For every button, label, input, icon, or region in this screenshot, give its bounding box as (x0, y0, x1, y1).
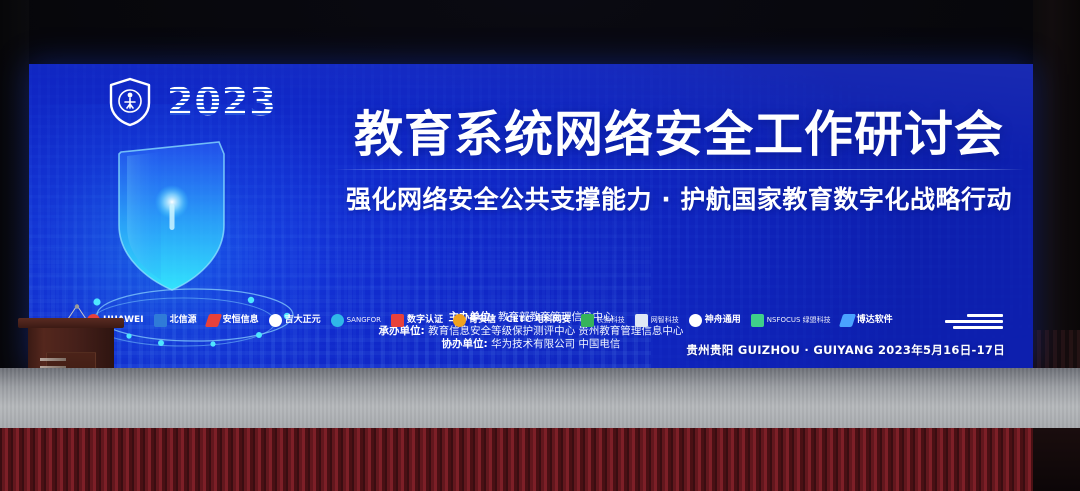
led-banner: 2023 (29, 64, 1033, 368)
sponsor-logo: 神舟通用 (689, 311, 741, 329)
page-title: 教育系统网络安全工作研讨会 (329, 109, 1029, 160)
sponsor-mark-icon (453, 314, 466, 327)
sponsor-logo: SANGFOR (331, 311, 381, 329)
conference-stage-scene: 2023 (0, 0, 1080, 491)
sponsor-name: 网智科技 (651, 317, 679, 324)
sponsor-logo: 北信源 (154, 311, 197, 329)
sponsor-logo: 网智科技 (635, 311, 679, 329)
sponsor-name: CETC 电科网安 (506, 316, 571, 325)
sponsor-mark-icon (581, 314, 594, 327)
sponsor-logo: 安恒信息 (207, 311, 259, 329)
sponsor-logo: 奇安信 (453, 311, 496, 329)
sponsor-mark-icon (269, 314, 282, 327)
sponsor-name: 安恒信息 (223, 316, 259, 325)
sponsor-mark-icon (635, 314, 648, 327)
sponsor-name: 数字认证 (407, 316, 443, 325)
podium-top (18, 318, 124, 328)
sponsor-logo: NSFOCUS 绿盟科技 (751, 311, 831, 329)
organizer-value: 华为技术有限公司 中国电信 (491, 338, 620, 350)
sponsor-logo: 博达软件 (841, 311, 893, 329)
year-lockup: 2023 (107, 76, 277, 128)
title-block: 教育系统网络安全工作研讨会 强化网络安全公共支撑能力 · 护航国家教育数字化战略… (329, 109, 1029, 216)
page-subtitle: 强化网络安全公共支撑能力 · 护航国家教育数字化战略行动 (329, 180, 1029, 216)
organizer-label: 协办单位: (442, 338, 488, 350)
stage-skirt-right-shadow (1033, 428, 1080, 491)
decorative-bars (943, 314, 1003, 332)
shield-person-logo-icon (107, 76, 153, 128)
sponsor-name: NSFOCUS 绿盟科技 (767, 317, 831, 324)
sponsor-name: SANGFOR (347, 317, 381, 324)
podium-slat (40, 358, 66, 361)
sponsor-logo: 吉大正元 (269, 311, 321, 329)
title-divider (333, 169, 1025, 170)
sponsor-name: 奇安信 (469, 316, 496, 325)
year-text: 2023 (167, 83, 277, 121)
sponsor-mark-icon (391, 314, 404, 327)
sponsor-name: 博达软件 (857, 316, 893, 325)
sponsor-logo: 数字认证 (391, 311, 443, 329)
sponsor-mark-icon (689, 314, 702, 327)
place-and-date: 贵州贵阳 GUIZHOU · GUIYANG 2023年5月16日-17日 (686, 342, 1005, 358)
sponsor-name: 长扬科技 (597, 317, 625, 324)
sponsor-mark-icon (751, 314, 764, 327)
sponsor-name: 北信源 (170, 316, 197, 325)
stage-skirt-curtain (0, 428, 1080, 491)
sponsor-mark-icon (204, 314, 221, 327)
sponsor-logo: CETC 电科网安 (506, 311, 571, 329)
sponsor-name: 吉大正元 (285, 316, 321, 325)
sponsor-mark-icon (331, 314, 344, 327)
stage-floor (0, 368, 1080, 430)
sponsor-mark-icon (154, 314, 167, 327)
sponsor-name: 神舟通用 (705, 316, 741, 325)
sponsor-mark-icon (839, 314, 856, 327)
sponsor-logo-strip: HUAWEI 北信源 安恒信息 吉大正元 SANGFOR 数字认证 奇安信 CE… (87, 308, 787, 332)
sponsor-logo: 长扬科技 (581, 311, 625, 329)
